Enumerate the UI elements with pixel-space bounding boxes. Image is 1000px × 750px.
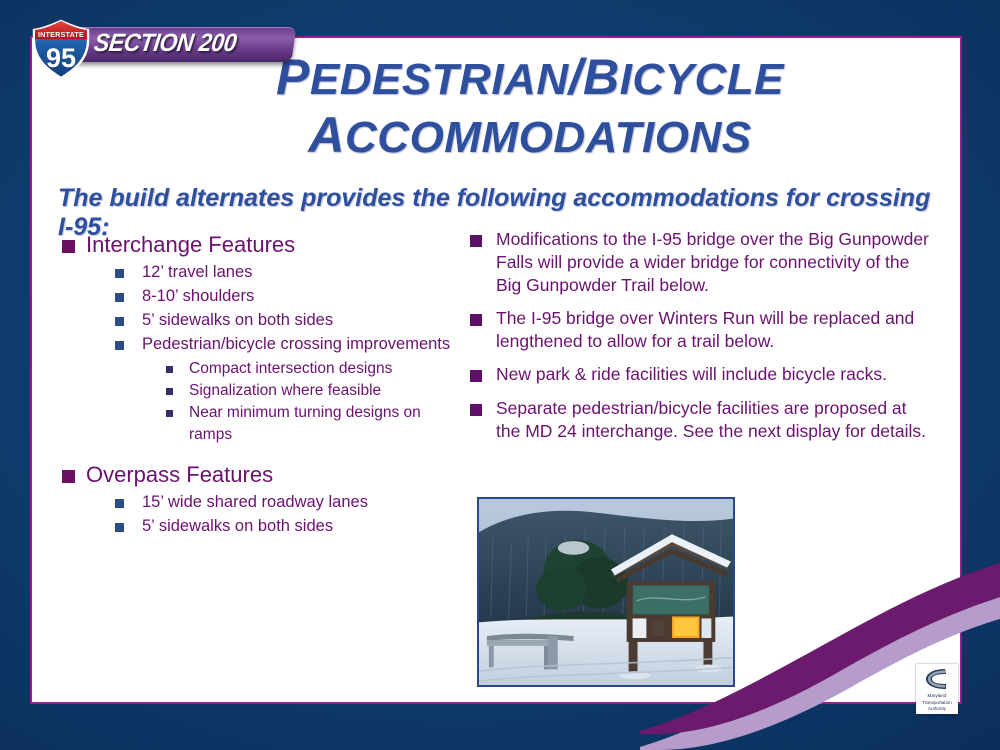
svg-text:INTERSTATE: INTERSTATE	[38, 30, 84, 39]
list-item: Compact intersection designs	[166, 358, 462, 379]
interstate-95-shield-icon: INTERSTATE 95	[30, 18, 92, 80]
page-title: PEDESTRIAN/BICYCLE ACCOMMODATIONS	[250, 48, 810, 164]
list-item: Pedestrian/bicycle crossing improvements	[115, 333, 462, 356]
presentation-slide: SECTION 200 INTERSTATE 95 PEDESTRIAN/BIC…	[0, 0, 1000, 750]
list-item: Modifications to the I-95 bridge over th…	[470, 228, 930, 297]
list-item-label: Signalization where feasible	[189, 380, 462, 401]
mdta-line-3: Authority	[916, 706, 958, 713]
brand-logo-group: SECTION 200 INTERSTATE 95	[22, 16, 292, 76]
list-item: Separate pedestrian/bicycle facilities a…	[470, 397, 930, 443]
mdta-logo-text: Maryland Transportation Authority	[916, 693, 958, 713]
list-item-label: Pedestrian/bicycle crossing improvements	[142, 333, 462, 356]
list-item: 15’ wide shared roadway lanes	[115, 491, 462, 514]
list-item-label: 12’ travel lanes	[142, 261, 462, 284]
list-item: 12’ travel lanes	[115, 261, 462, 284]
list-item-label: Near minimum turning designs on ramps	[189, 402, 462, 445]
list-item: The I-95 bridge over Winters Run will be…	[470, 307, 930, 353]
bullet-square-icon	[115, 341, 124, 350]
list-item: 5’ sidewalks on both sides	[115, 515, 462, 538]
bullet-square-icon	[62, 470, 75, 483]
list-item: 8-10’ shoulders	[115, 285, 462, 308]
title-line-2: ACCOMMODATIONS	[250, 106, 810, 164]
list-item-label: Compact intersection designs	[189, 358, 462, 379]
bullet-square-icon	[166, 410, 173, 417]
list-item-label: Separate pedestrian/bicycle facilities a…	[496, 397, 930, 443]
bullet-square-icon	[470, 235, 482, 247]
right-bullet-column: Modifications to the I-95 bridge over th…	[470, 228, 930, 453]
bullet-square-icon	[470, 314, 482, 326]
bullet-square-icon	[115, 317, 124, 326]
list-item: Signalization where feasible	[166, 380, 462, 401]
bullet-square-icon	[470, 370, 482, 382]
bullet-square-icon	[166, 388, 173, 395]
list-item-label: Overpass Features	[86, 461, 462, 489]
bullet-square-icon	[115, 269, 124, 278]
photo-graphic	[479, 499, 733, 685]
list-item: Interchange Features	[62, 231, 462, 259]
mdta-line-2: Transportation	[916, 700, 958, 707]
list-item-label: 5’ sidewalks on both sides	[142, 309, 462, 332]
list-item: Near minimum turning designs on ramps	[166, 402, 462, 445]
list-item: New park & ride facilities will include …	[470, 363, 930, 386]
bullet-square-icon	[115, 293, 124, 302]
list-item-label: The I-95 bridge over Winters Run will be…	[496, 307, 930, 353]
left-bullet-column: Interchange Features 12’ travel lanes 8-…	[62, 231, 462, 539]
bullet-square-icon	[115, 499, 124, 508]
svg-text:95: 95	[46, 43, 76, 73]
bullet-square-icon	[470, 404, 482, 416]
list-item: Overpass Features	[62, 461, 462, 489]
trailhead-kiosk-photo	[477, 497, 735, 687]
bullet-square-icon	[166, 366, 173, 373]
maryland-transportation-authority-logo: Maryland Transportation Authority	[916, 664, 958, 714]
title-line-1: PEDESTRIAN/BICYCLE	[250, 48, 810, 106]
mdta-line-1: Maryland	[916, 693, 958, 700]
list-item-label: 8-10’ shoulders	[142, 285, 462, 308]
section-banner-label: SECTION 200	[92, 29, 238, 58]
list-item-label: Modifications to the I-95 bridge over th…	[496, 228, 930, 297]
mdta-mark-icon	[918, 665, 956, 693]
list-item-label: 5’ sidewalks on both sides	[142, 515, 462, 538]
list-item-label: New park & ride facilities will include …	[496, 363, 930, 386]
bullet-square-icon	[115, 523, 124, 532]
list-item-label: Interchange Features	[86, 231, 462, 259]
bullet-square-icon	[62, 240, 75, 253]
list-item-label: 15’ wide shared roadway lanes	[142, 491, 462, 514]
list-item: 5’ sidewalks on both sides	[115, 309, 462, 332]
